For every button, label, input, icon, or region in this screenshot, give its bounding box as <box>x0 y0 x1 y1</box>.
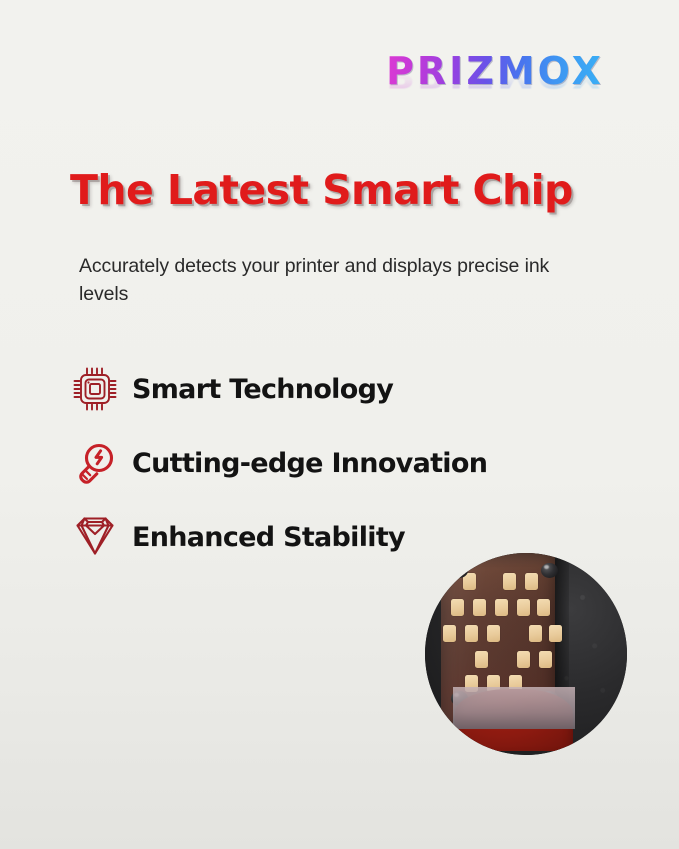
contact-pad <box>549 625 562 642</box>
feature-label: Cutting-edge Innovation <box>132 448 487 479</box>
contact-pad <box>517 651 530 668</box>
lightbulb-bolt-icon <box>58 438 132 488</box>
contact-pad <box>473 599 486 616</box>
contact-pad <box>503 573 516 590</box>
contact-pad <box>465 625 478 642</box>
brand-logo: PRIZMOX PRIZMOX <box>380 52 610 144</box>
feature-label: Enhanced Stability <box>132 522 405 553</box>
feature-label: Smart Technology <box>132 374 393 405</box>
contact-pad <box>539 651 552 668</box>
product-photo <box>425 553 627 755</box>
subtitle: Accurately detects your printer and disp… <box>79 253 569 308</box>
feature-item-cutting-edge-innovation: Cutting-edge Innovation <box>58 426 598 500</box>
cartridge-bottom-band <box>453 687 575 729</box>
chip-plate <box>441 553 555 729</box>
diamond-icon <box>58 512 132 562</box>
mounting-post <box>451 563 468 578</box>
feature-item-smart-technology: Smart Technology <box>58 352 598 426</box>
brand-logo-reflection: PRIZMOX <box>380 62 610 92</box>
contact-pad <box>443 625 456 642</box>
feature-list: Smart Technology Cutting-edge Innovation <box>58 352 598 574</box>
contact-pad <box>487 625 500 642</box>
contact-pad <box>451 599 464 616</box>
contact-pad <box>537 599 550 616</box>
contact-pad <box>525 573 538 590</box>
contact-pad <box>517 599 530 616</box>
mounting-post <box>541 563 558 578</box>
contact-pad <box>495 599 508 616</box>
contact-pad <box>529 625 542 642</box>
headline: The Latest Smart Chip <box>70 168 630 212</box>
microchip-icon <box>58 364 132 414</box>
contact-pad <box>475 651 488 668</box>
product-photo-inner <box>425 553 627 755</box>
